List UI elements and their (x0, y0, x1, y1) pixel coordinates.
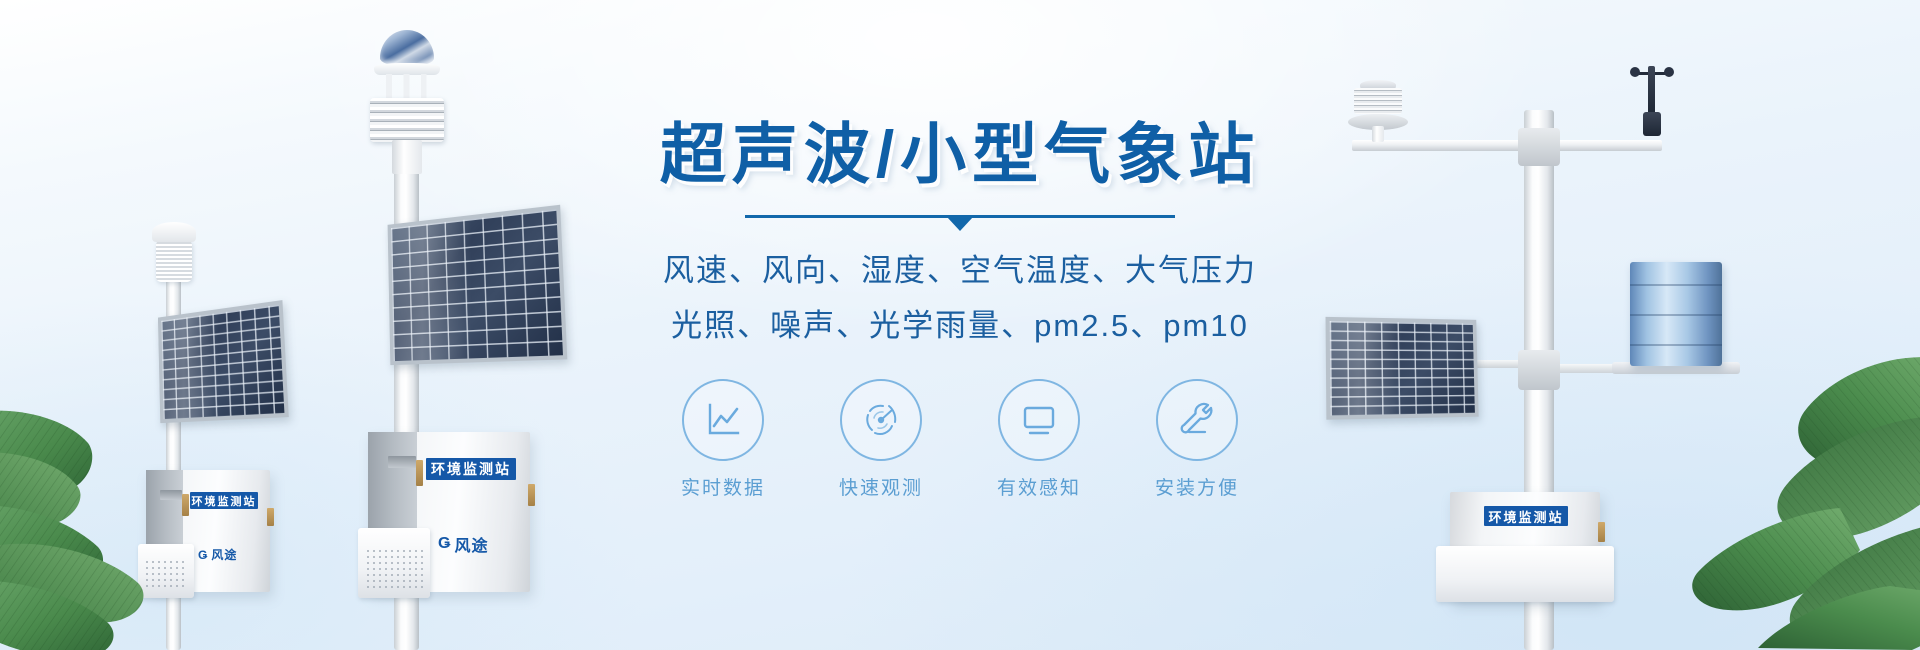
feature-label-1: 实时数据 (663, 473, 783, 500)
feature-circle-3[interactable] (998, 379, 1080, 461)
line-chart-icon (701, 398, 745, 442)
feature-realtime-data[interactable]: 实时数据 (663, 379, 783, 500)
right-cabinet: 环境监测站 (1450, 492, 1600, 602)
feature-circle-4[interactable] (1156, 379, 1238, 461)
vane-cup-right (1664, 67, 1674, 77)
right-solar-glare (1326, 317, 1444, 420)
right-solar-panel (1326, 317, 1479, 420)
title-divider (745, 215, 1175, 218)
right-cabinet-label: 环境监测站 (1484, 506, 1568, 526)
vane-cup-left (1630, 67, 1640, 77)
feature-effective-sensing[interactable]: 有效感知 (979, 379, 1099, 500)
brand-text: 风途 (454, 532, 488, 556)
feature-icon-row: 实时数据 快速观测 (600, 379, 1320, 500)
rain-gauge-band-2 (1630, 314, 1722, 316)
left-cabinet-vent (160, 490, 182, 500)
left-cabinet-brand: Ǥ 风途 (198, 546, 237, 563)
left-cabinet: 环境监测站 Ǥ 风途 (146, 470, 270, 592)
feature-circle-1[interactable] (682, 379, 764, 461)
feature-label-4: 安装方便 (1137, 473, 1257, 500)
feature-label-2: 快速观测 (821, 473, 941, 500)
subtitle-line-1: 风速、风向、湿度、空气温度、大气压力 (600, 244, 1320, 298)
brand-mark-icon: Ǥ (438, 535, 451, 553)
feature-subtitle-list: 风速、风向、湿度、空气温度、大气压力 光照、噪声、光学雨量、pm2.5、pm10 (600, 244, 1320, 353)
center-left-cabinet-handle (528, 484, 535, 506)
vane-shaft (1648, 66, 1655, 116)
right-cabinet-handle (1598, 522, 1605, 542)
center-left-cabinet-bottom-box (358, 528, 430, 598)
feature-easy-installation[interactable]: 安装方便 (1137, 379, 1257, 500)
left-cabinet-bottom-box (138, 544, 194, 598)
brand-mark-icon: Ǥ (198, 548, 208, 562)
rain-gauge-band-1 (1630, 284, 1722, 286)
left-cabinet-handle (267, 508, 274, 526)
compact-sensor-stem (1372, 126, 1384, 142)
compact-weather-station-sensor (1348, 80, 1408, 142)
right-cabinet-lower-shelf (1436, 546, 1614, 602)
brand-text: 风途 (211, 546, 237, 563)
monitor-icon (1017, 398, 1061, 442)
center-left-cabinet-vent (388, 456, 416, 468)
feature-label-3: 有效感知 (979, 473, 1099, 500)
rain-gauge-pole-collar (1518, 350, 1560, 390)
compact-sensor-fins (1354, 88, 1402, 114)
ultrasonic-transducer-legs (378, 74, 436, 100)
ultrasonic-dome (380, 30, 434, 66)
subtitle-line-2: 光照、噪声、光学雨量、pm2.5、pm10 (600, 299, 1320, 353)
feature-circle-2[interactable] (840, 379, 922, 461)
feature-fast-observation[interactable]: 快速观测 (821, 379, 941, 500)
left-cabinet-grille (144, 559, 189, 590)
page-title: 超声波/小型气象站 (600, 120, 1320, 189)
left-solar-panel (158, 300, 289, 423)
left-small-sensor-cap (152, 222, 196, 242)
right-foliage-decoration (1680, 330, 1920, 650)
ultrasonic-weather-sensor (368, 30, 446, 170)
left-cabinet-latch-top (182, 494, 189, 516)
sensor-mount-stem (392, 140, 422, 174)
right-station-pole-collar (1518, 128, 1560, 166)
radiation-shield-stack (370, 98, 444, 142)
wrench-icon (1175, 398, 1219, 442)
rain-gauge-band-3 (1630, 344, 1722, 346)
left-small-radiation-shield (156, 240, 192, 282)
center-left-cabinet-latch-top (416, 460, 423, 486)
down-caret-icon (947, 217, 973, 231)
vane-mount-block (1643, 112, 1661, 136)
center-left-cabinet-label: 环境监测站 (426, 458, 516, 480)
center-left-cabinet-brand: Ǥ 风途 (438, 532, 488, 556)
center-left-cabinet: 环境监测站 Ǥ 风途 (368, 432, 530, 592)
left-tall-solar-panel (388, 205, 568, 365)
radar-sensor-icon (859, 398, 903, 442)
rain-gauge-sensor (1630, 262, 1722, 366)
banner-text-block: 超声波/小型气象站 风速、风向、湿度、空气温度、大气压力 光照、噪声、光学雨量、… (600, 120, 1320, 500)
wind-direction-vane-sensor (1630, 62, 1674, 144)
product-banner: 环境监测站 Ǥ 风途 环境监测站 Ǥ 风途 (0, 0, 1920, 650)
left-cabinet-label: 环境监测站 (190, 492, 258, 509)
center-left-cabinet-grille (365, 548, 423, 589)
